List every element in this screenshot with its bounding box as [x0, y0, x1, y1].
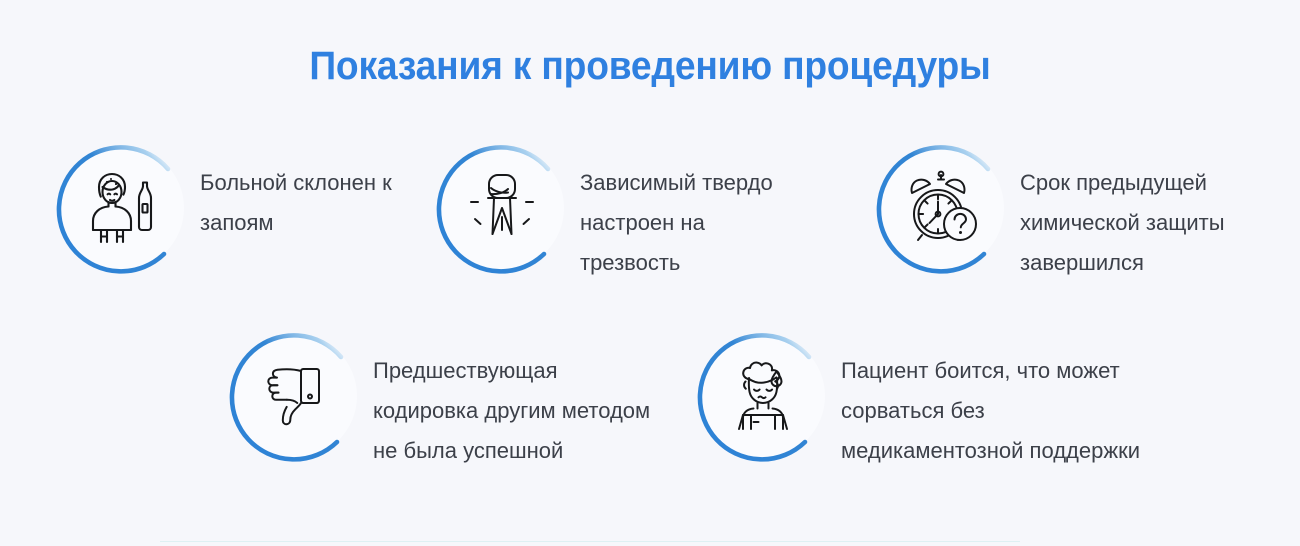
indication-card-1: Больной склонен к запоям: [56, 142, 440, 274]
worried-person-icon: [697, 330, 829, 462]
alarm-clock-question-icon: [876, 142, 1008, 274]
icon-ring-2: [436, 142, 568, 274]
icon-ring-4: [229, 330, 361, 462]
indication-text-2: Зависимый твердо настроен на трезвость: [580, 142, 810, 283]
indication-card-3: Срок предыдущей химической защиты заверш…: [876, 142, 1280, 283]
indication-text-3: Срок предыдущей химической защиты заверш…: [1020, 142, 1280, 283]
thumbs-down-icon: [229, 330, 361, 462]
indication-text-5-line-3: медикаментозной поддержки: [841, 431, 1201, 471]
indication-card-2: Зависимый твердо настроен на трезвость: [436, 142, 810, 283]
indication-text-3-line-2: химической защиты: [1020, 203, 1280, 243]
indication-text-1-line-1: Больной склонен к: [200, 163, 440, 203]
indication-text-4: Предшествующая кодировка другим методом …: [373, 330, 713, 471]
indication-text-5-line-1: Пациент боится, что может: [841, 351, 1201, 391]
icon-ring-5: [697, 330, 829, 462]
page-title: Показания к проведению процедуры: [46, 44, 1255, 89]
indication-text-4-line-2: кодировка другим методом: [373, 391, 713, 431]
indication-text-1-line-2: запоям: [200, 203, 440, 243]
indication-card-4: Предшествующая кодировка другим методом …: [229, 330, 713, 471]
indication-text-5-line-2: сорваться без: [841, 391, 1201, 431]
indication-text-3-line-1: Срок предыдущей: [1020, 163, 1280, 203]
indication-text-4-line-3: не была успешной: [373, 431, 713, 471]
indication-text-2-line-2: настроен на: [580, 203, 810, 243]
icon-ring-3: [876, 142, 1008, 274]
indication-text-5: Пациент боится, что может сорваться без …: [841, 330, 1201, 471]
indication-text-4-line-1: Предшествующая: [373, 351, 713, 391]
person-with-bottle-icon: [56, 142, 188, 274]
determined-person-icon: [436, 142, 568, 274]
bottom-divider: [160, 541, 1020, 542]
indication-text-1: Больной склонен к запоям: [200, 142, 440, 243]
infographic-root: Показания к проведению процедуры: [0, 0, 1300, 546]
indication-text-2-line-3: трезвость: [580, 243, 810, 283]
icon-ring-1: [56, 142, 188, 274]
indication-text-2-line-1: Зависимый твердо: [580, 163, 810, 203]
indication-card-5: Пациент боится, что может сорваться без …: [697, 330, 1201, 471]
indication-text-3-line-3: завершился: [1020, 243, 1280, 283]
